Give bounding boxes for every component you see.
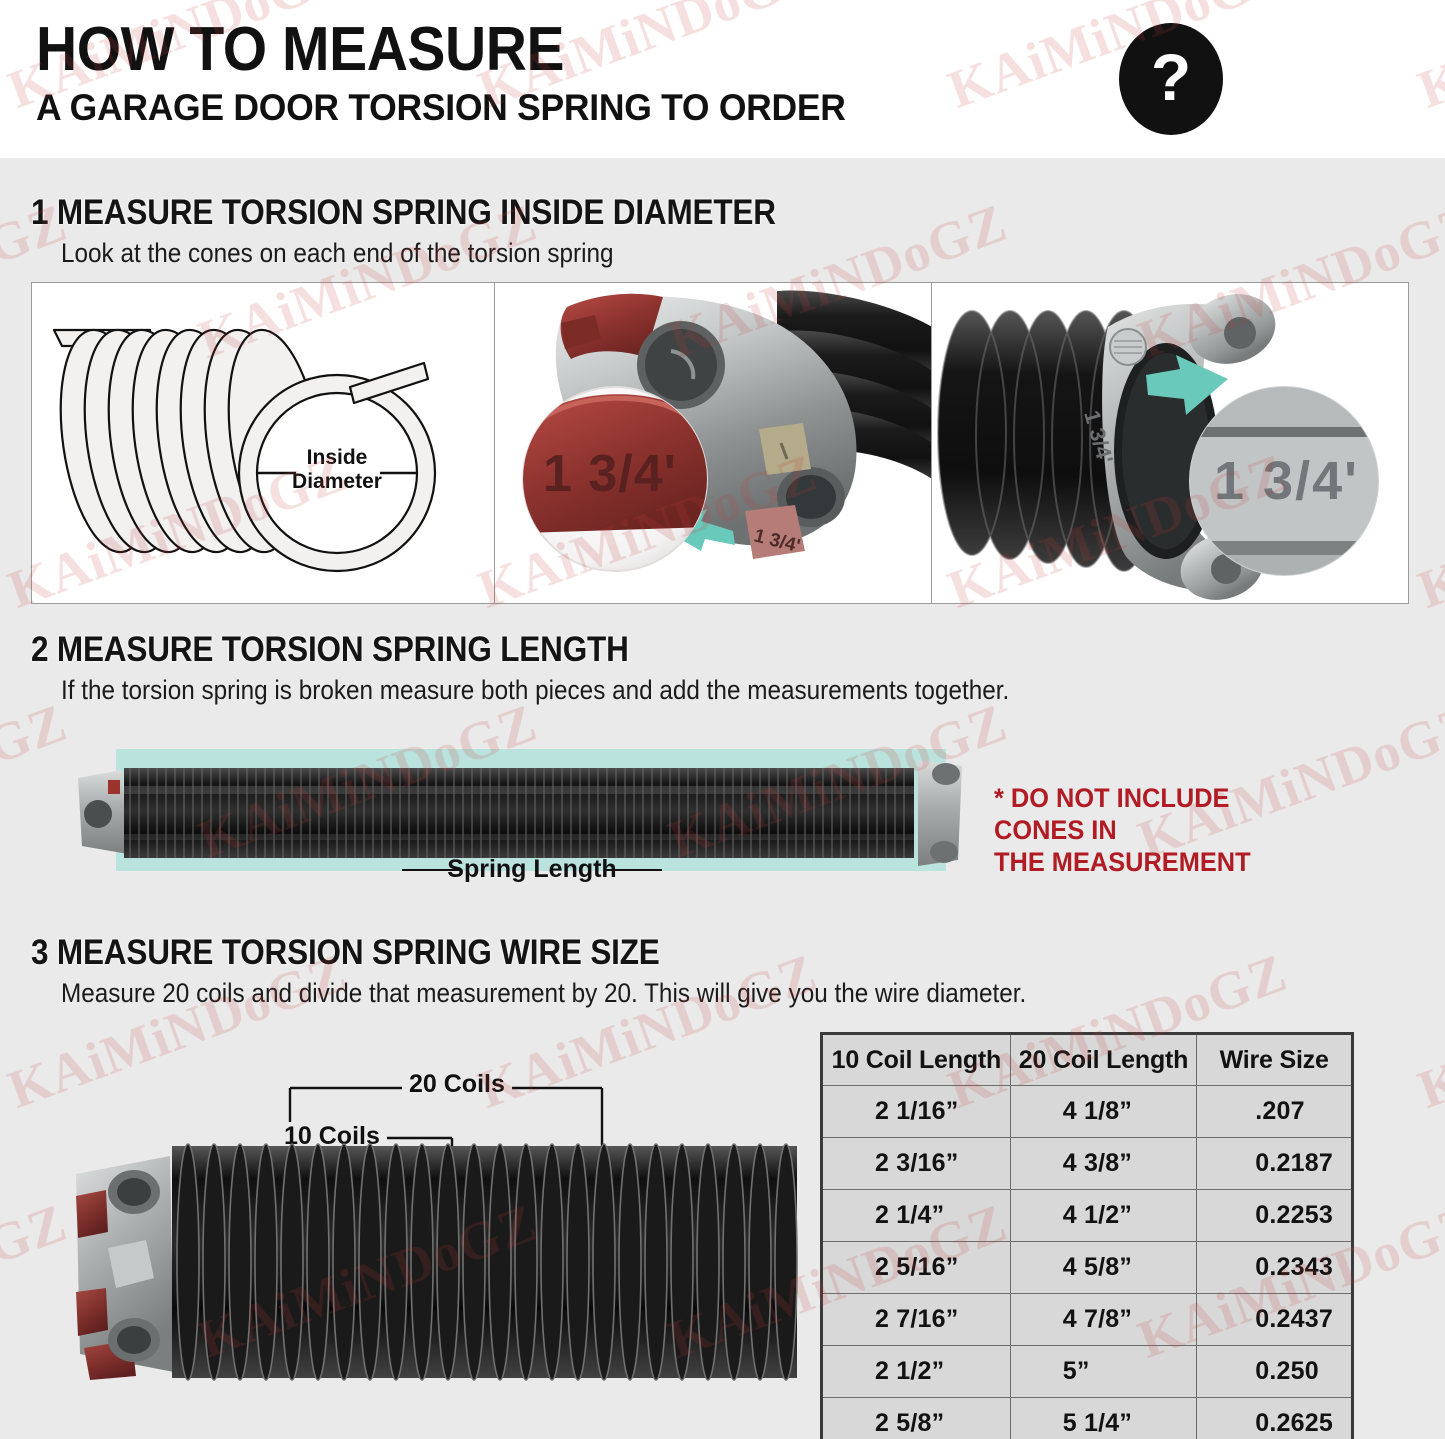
inside-diameter-label-line1: Inside <box>307 446 368 469</box>
table-row: 2 3/16” 4 3/8” 0.2187 <box>822 1138 1353 1190</box>
cell-wire-size: 0.250 <box>1197 1346 1353 1398</box>
cell-20-coil: 5” <box>1010 1346 1197 1398</box>
full-torsion-spring-photo <box>62 752 1002 872</box>
red-cone-magnified-text: 1 3/4' <box>543 445 677 503</box>
table-row: 2 5/8” 5 1/4” 0.2625 <box>822 1398 1353 1439</box>
cell-10-coil: 2 5/8” <box>822 1398 1011 1439</box>
cell-20-coil: 4 5/8” <box>1010 1242 1197 1294</box>
step-3-subtitle: Measure 20 coils and divide that measure… <box>61 976 1026 1010</box>
table-row: 2 1/16” 4 1/8” .207 <box>822 1086 1353 1138</box>
steel-cone-photo: 1 3/4' 1 3/4' <box>932 283 1408 603</box>
step-3-heading: 3 MEASURE TORSION SPRING WIRE SIZE Measu… <box>31 933 1134 1010</box>
step-2-figure: Spring Length <box>62 737 1002 892</box>
warning-line-1: * DO NOT INCLUDE CONES IN <box>994 783 1229 845</box>
inside-diameter-diagram-panel: Inside Diameter <box>32 283 494 603</box>
table-header-row: 10 Coil Length 20 Coil Length Wire Size <box>822 1034 1353 1086</box>
page-header: HOW TO MEASURE A GARAGE DOOR TORSION SPR… <box>0 0 1445 158</box>
cell-10-coil: 2 5/16” <box>822 1242 1011 1294</box>
cell-20-coil: 4 3/8” <box>1010 1138 1197 1190</box>
torsion-spring-line-drawing <box>32 283 494 603</box>
page-title: HOW TO MEASURE <box>36 18 812 82</box>
steel-cone-photo-panel: 1 3/4' 1 3/4' 1 3/4' <box>931 283 1408 603</box>
cell-10-coil: 2 1/16” <box>822 1086 1011 1138</box>
cone-measurement-warning: * DO NOT INCLUDE CONES IN THE MEASUREMEN… <box>994 782 1323 878</box>
label-20-coils: 20 Coils <box>402 1070 512 1099</box>
step-3-title: 3 MEASURE TORSION SPRING WIRE SIZE <box>31 933 1023 973</box>
step-2-subtitle: If the torsion spring is broken measure … <box>61 673 1009 707</box>
step-1-subtitle: Look at the cones on each end of the tor… <box>61 236 779 270</box>
step-2-heading: 2 MEASURE TORSION SPRING LENGTH If the t… <box>31 630 1115 707</box>
inside-diameter-label-line2: Diameter <box>292 470 382 493</box>
cell-wire-size: 0.2437 <box>1197 1294 1353 1346</box>
page-subtitle: A GARAGE DOOR TORSION SPRING TO ORDER <box>36 86 846 130</box>
inside-diameter-label: Inside Diameter <box>273 446 401 494</box>
cell-10-coil: 2 7/16” <box>822 1294 1011 1346</box>
cell-10-coil: 2 3/16” <box>822 1138 1011 1190</box>
step-3-figure: 20 Coils 10 Coils <box>62 1060 802 1390</box>
cell-wire-size: 0.2625 <box>1197 1398 1353 1439</box>
table-row: 2 1/2” 5” 0.250 <box>822 1346 1353 1398</box>
steel-cone-magnified-text: 1 3/4' <box>1214 451 1359 511</box>
cell-20-coil: 4 1/8” <box>1010 1086 1197 1138</box>
infographic-page: HOW TO MEASURE A GARAGE DOOR TORSION SPR… <box>0 0 1445 1439</box>
cell-wire-size: 0.2253 <box>1197 1190 1353 1242</box>
th-20-coil-length: 20 Coil Length <box>1010 1034 1197 1086</box>
step-1-panel-strip: Inside Diameter <box>31 282 1409 604</box>
closeup-spring-photo <box>62 1140 802 1390</box>
th-wire-size: Wire Size <box>1197 1034 1353 1086</box>
red-cone-photo-panel: 1 3/4' 1 3/4' 1 3/4' <box>494 283 931 603</box>
cell-20-coil: 5 1/4” <box>1010 1398 1197 1439</box>
table-row: 2 7/16” 4 7/8” 0.2437 <box>822 1294 1353 1346</box>
step-2-title: 2 MEASURE TORSION SPRING LENGTH <box>31 630 1006 670</box>
warning-line-2: THE MEASUREMENT <box>994 847 1251 877</box>
cell-20-coil: 4 1/2” <box>1010 1190 1197 1242</box>
watermark-text: KAiMiNDoGZ <box>1410 441 1445 621</box>
header-title-block: HOW TO MEASURE A GARAGE DOOR TORSION SPR… <box>36 18 879 130</box>
cell-10-coil: 2 1/4” <box>822 1190 1011 1242</box>
wire-size-table: 10 Coil Length 20 Coil Length Wire Size … <box>820 1032 1354 1439</box>
th-10-coil-length: 10 Coil Length <box>822 1034 1011 1086</box>
cell-wire-size: .207 <box>1197 1086 1353 1138</box>
question-mark-icon: ? <box>1119 23 1223 135</box>
cell-wire-size: 0.2343 <box>1197 1242 1353 1294</box>
cell-wire-size: 0.2187 <box>1197 1138 1353 1190</box>
table-row: 2 1/4” 4 1/2” 0.2253 <box>822 1190 1353 1242</box>
cell-10-coil: 2 1/2” <box>822 1346 1011 1398</box>
step-1-title: 1 MEASURE TORSION SPRING INSIDE DIAMETER <box>31 193 776 233</box>
table-row: 2 5/16” 4 5/8” 0.2343 <box>822 1242 1353 1294</box>
cell-20-coil: 4 7/8” <box>1010 1294 1197 1346</box>
spring-length-leader-lines <box>62 861 1002 879</box>
step-1-heading: 1 MEASURE TORSION SPRING INSIDE DIAMETER… <box>31 193 859 270</box>
red-cone-photo: 1 3/4' 1 3/4' <box>495 283 931 603</box>
watermark-text: KAiMiNDoGZ <box>1410 941 1445 1121</box>
